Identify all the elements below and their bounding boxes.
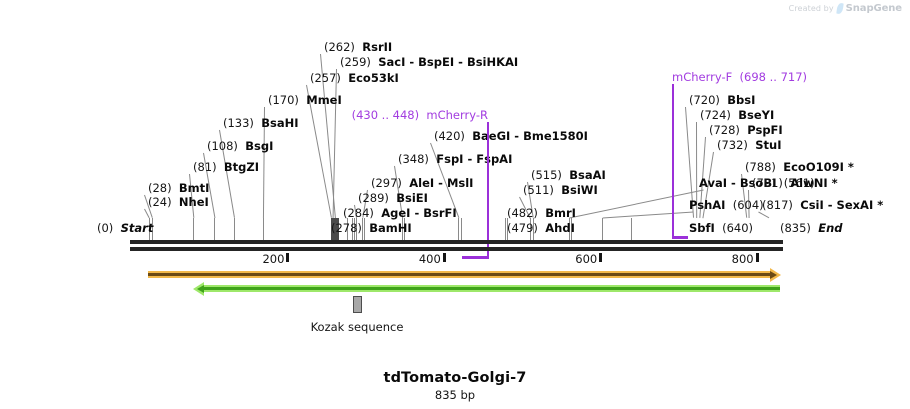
- enzyme-label[interactable]: (170) MmeI: [268, 94, 342, 106]
- enzyme-site-tick[interactable]: [602, 218, 603, 240]
- enzyme-label[interactable]: (257) Eco53kI: [310, 72, 399, 84]
- enzyme-site-tick[interactable]: [458, 218, 459, 240]
- enzyme-label[interactable]: (28) BmtI: [148, 182, 209, 194]
- enzyme-site-tick[interactable]: [631, 218, 632, 240]
- primer-line[interactable]: [672, 84, 674, 239]
- enzyme-label[interactable]: (108) BsgI: [207, 140, 273, 152]
- enzyme-label[interactable]: (788) EcoO109I *: [745, 161, 854, 173]
- enzyme-site-tick[interactable]: [214, 218, 215, 240]
- primer-label[interactable]: mCherry-F (698 .. 717): [672, 71, 807, 83]
- ruler-tick-label: 400: [419, 252, 441, 266]
- enzyme-site-tick[interactable]: [461, 218, 462, 240]
- enzyme-label[interactable]: PshAI (604): [689, 199, 764, 211]
- label-leader-line: [603, 212, 694, 219]
- map-subtitle: 835 bp: [0, 388, 910, 402]
- enzyme-site-tick[interactable]: [263, 218, 264, 240]
- ruler-tick: [286, 253, 289, 262]
- enzyme-label[interactable]: (81) BtgZI: [193, 161, 259, 173]
- enzyme-label[interactable]: SbfI (640): [689, 222, 753, 234]
- primer-bracket[interactable]: [672, 236, 688, 239]
- ruler-tick-label: 600: [575, 252, 597, 266]
- enzyme-label[interactable]: (720) BbsI: [689, 94, 755, 106]
- enzyme-label[interactable]: (24) NheI: [148, 196, 209, 208]
- label-leader-line: [758, 212, 769, 219]
- ruler-tick: [756, 253, 759, 262]
- ruler-tick-label: 800: [732, 252, 754, 266]
- kozak-sequence-label: Kozak sequence: [311, 320, 404, 334]
- enzyme-label[interactable]: (297) AleI - MslI: [371, 177, 473, 189]
- orf-arrowhead-inner: [770, 271, 777, 279]
- enzyme-label[interactable]: (420) BaeGI - Bme1580I: [434, 130, 588, 142]
- enzyme-label[interactable]: (482) BmrI: [507, 207, 576, 219]
- enzyme-label[interactable]: (728) PspFI: [709, 124, 783, 136]
- watermark-created-by-label: Created by: [789, 4, 834, 13]
- enzyme-label[interactable]: (511) BsiWI: [523, 184, 598, 196]
- ruler-tick-label: 200: [262, 252, 284, 266]
- enzyme-label[interactable]: (348) FspI - FspAI: [398, 153, 512, 165]
- enzyme-label[interactable]: (289) BsiEI: [358, 192, 428, 204]
- ruler-tick: [599, 253, 602, 262]
- enzyme-site-tick[interactable]: [505, 218, 506, 240]
- ruler-tick: [443, 253, 446, 262]
- enzyme-label[interactable]: (262) RsrII: [324, 41, 392, 53]
- enzyme-site-tick[interactable]: [234, 218, 235, 240]
- enzyme-label[interactable]: (284) AgeI - BsrFI: [343, 207, 457, 219]
- enzyme-site-tick[interactable]: [193, 218, 194, 240]
- plasmid-map-canvas: Created by SnapGene (0) Start(24) NheI(2…: [0, 0, 910, 409]
- primer-line[interactable]: [487, 122, 489, 259]
- primer-bracket[interactable]: [462, 256, 487, 259]
- snapgene-leaf-icon: [836, 3, 843, 15]
- kozak-sequence-box[interactable]: [353, 296, 362, 313]
- map-title: tdTomato-Golgi-7: [0, 370, 910, 386]
- enzyme-label[interactable]: (133) BsaHI: [223, 117, 299, 129]
- dna-backbone-top-strand: [130, 240, 783, 244]
- enzyme-label[interactable]: (791) AlwNI *: [752, 177, 838, 189]
- watermark-brand-label: SnapGene: [846, 3, 902, 14]
- enzyme-label[interactable]: (835) End: [780, 222, 843, 234]
- enzyme-label[interactable]: (515) BsaAI: [531, 169, 606, 181]
- primer-label[interactable]: (430 .. 448) mCherry-R: [352, 109, 488, 121]
- enzyme-label[interactable]: (0) Start: [97, 222, 153, 234]
- orf-arrow[interactable]: [148, 271, 771, 278]
- feature-arrow-green[interactable]: [203, 285, 780, 292]
- dna-backbone-bottom-strand: [130, 247, 783, 251]
- feature-arrowhead-inner: [197, 285, 204, 293]
- snapgene-watermark: Created by SnapGene: [789, 3, 902, 14]
- enzyme-label[interactable]: (259) SacI - BspEI - BsiHKAI: [340, 56, 518, 68]
- enzyme-label[interactable]: (817) CsiI - SexAI *: [762, 199, 883, 211]
- enzyme-label[interactable]: (479) AhdI: [507, 222, 575, 234]
- enzyme-label[interactable]: (732) StuI: [717, 139, 782, 151]
- enzyme-label[interactable]: (724) BseYI: [700, 109, 774, 121]
- enzyme-label[interactable]: (278) BamHI: [331, 222, 412, 234]
